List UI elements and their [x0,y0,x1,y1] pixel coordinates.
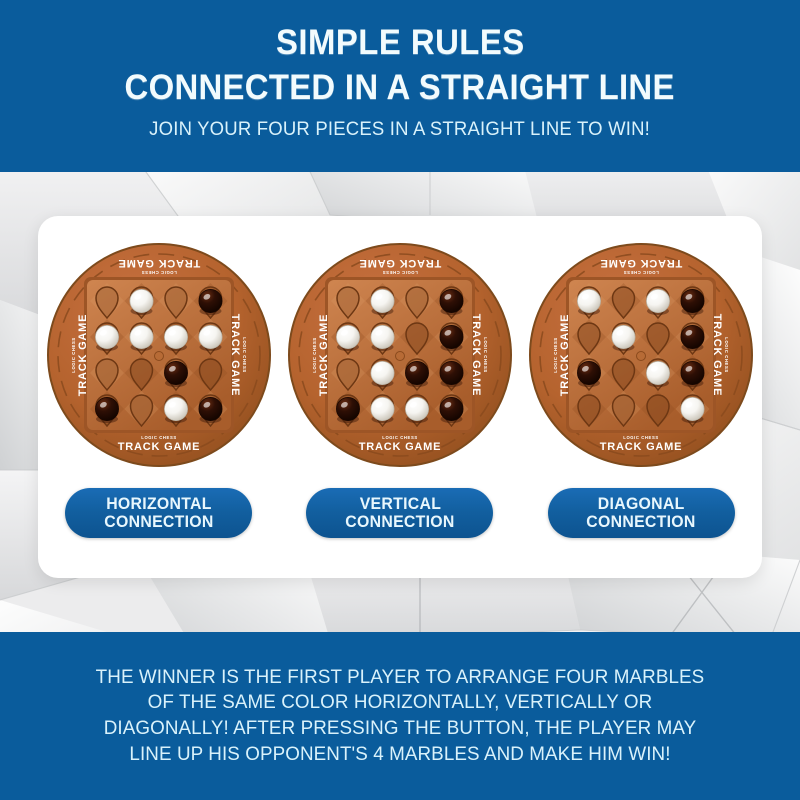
marble-black [164,361,187,387]
page-title-line-1: SIMPLE RULES [276,25,525,62]
game-board-vertical[interactable]: LOGIC CHESSTRACK GAMELOGIC CHESSTRACK GA… [285,240,515,470]
svg-text:TRACK GAME: TRACK GAME [711,314,723,397]
game-board-horizontal[interactable]: LOGIC CHESSTRACK GAMELOGIC CHESSTRACK GA… [44,240,274,470]
svg-text:LOGIC CHESS: LOGIC CHESS [382,435,417,440]
connection-button-diagonal[interactable]: DIAGONALCONNECTION [548,488,735,538]
svg-text:LOGIC CHESS: LOGIC CHESS [624,435,659,440]
marble-black [405,361,428,387]
boards-row: LOGIC CHESSTRACK GAMELOGIC CHESSTRACK GA… [38,230,762,480]
header-banner: SIMPLE RULES CONNECTED IN A STRAIGHT LIN… [0,0,800,172]
svg-text:TRACK GAME: TRACK GAME [359,257,442,269]
svg-text:TRACK GAME: TRACK GAME [117,441,200,453]
marble-white [612,325,635,351]
marble-white [647,361,670,387]
svg-text:TRACK GAME: TRACK GAME [77,314,89,397]
svg-text:LOGIC CHESS: LOGIC CHESS [553,337,558,372]
svg-text:LOGIC CHESS: LOGIC CHESS [141,435,176,440]
connection-button-horizontal[interactable]: HORIZONTALCONNECTION [65,488,252,538]
connection-buttons-row: HORIZONTALCONNECTIONVERTICALCONNECTIONDI… [38,488,762,538]
svg-text:LOGIC CHESS: LOGIC CHESS [624,270,659,275]
marble-black [336,397,359,423]
marble-black [95,397,118,423]
svg-text:LOGIC CHESS: LOGIC CHESS [382,270,417,275]
connection-button-label-line-2: CONNECTION [345,513,454,531]
page-subtitle: JOIN YOUR FOUR PIECES IN A STRAIGHT LINE… [150,118,651,141]
svg-text:LOGIC CHESS: LOGIC CHESS [242,337,247,372]
marble-black [440,289,463,315]
marble-black [440,361,463,387]
marble-white [199,325,222,351]
connection-button-label-line-1: VERTICAL [359,495,441,513]
svg-text:LOGIC CHESS: LOGIC CHESS [71,337,76,372]
marble-black [681,325,704,351]
marble-white [371,325,394,351]
marble-black [440,397,463,423]
page-title-line-2: CONNECTED IN A STRAIGHT LINE [125,68,675,107]
connection-button-label-line-2: CONNECTION [587,513,696,531]
marble-white [371,289,394,315]
svg-text:TRACK GAME: TRACK GAME [318,314,330,397]
marble-white [371,397,394,423]
marble-black [681,289,704,315]
marble-black [578,361,601,387]
svg-text:LOGIC CHESS: LOGIC CHESS [724,337,729,372]
marble-black [681,361,704,387]
marble-white [371,361,394,387]
svg-text:TRACK GAME: TRACK GAME [600,257,683,269]
connection-button-label-line-2: CONNECTION [104,513,213,531]
game-board-diagonal[interactable]: LOGIC CHESSTRACK GAMELOGIC CHESSTRACK GA… [526,240,756,470]
connection-button-label-line-1: DIAGONAL [598,495,685,513]
marble-black [199,397,222,423]
marble-white [95,325,118,351]
marble-black [440,325,463,351]
rules-card: LOGIC CHESSTRACK GAMELOGIC CHESSTRACK GA… [38,216,762,578]
svg-text:LOGIC CHESS: LOGIC CHESS [312,337,317,372]
marble-white [647,289,670,315]
connection-button-label-line-1: HORIZONTAL [106,495,212,513]
marble-white [164,397,187,423]
marble-white [164,325,187,351]
footer-description: THE WINNER IS THE FIRST PLAYER TO ARRANG… [90,665,711,767]
marble-black [199,289,222,315]
marble-white [681,397,704,423]
svg-text:TRACK GAME: TRACK GAME [559,314,571,397]
marble-white [336,325,359,351]
marble-white [405,397,428,423]
marble-white [578,289,601,315]
svg-text:TRACK GAME: TRACK GAME [600,441,683,453]
svg-text:TRACK GAME: TRACK GAME [470,314,482,397]
footer-banner: THE WINNER IS THE FIRST PLAYER TO ARRANG… [0,632,800,800]
marble-white [130,325,153,351]
svg-text:TRACK GAME: TRACK GAME [117,257,200,269]
svg-text:TRACK GAME: TRACK GAME [229,314,241,397]
connection-button-vertical[interactable]: VERTICALCONNECTION [306,488,493,538]
marble-white [130,289,153,315]
svg-text:LOGIC CHESS: LOGIC CHESS [141,270,176,275]
svg-text:TRACK GAME: TRACK GAME [359,441,442,453]
svg-text:LOGIC CHESS: LOGIC CHESS [483,337,488,372]
